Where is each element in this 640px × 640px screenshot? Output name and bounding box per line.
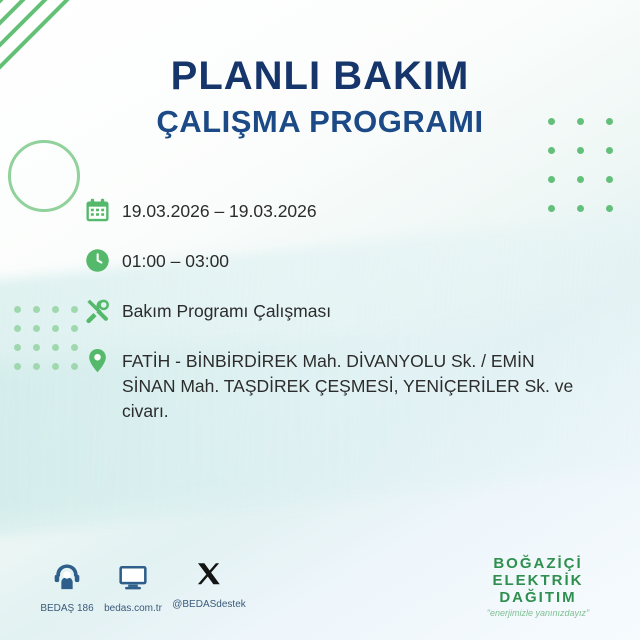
- page-title: PLANLI BAKIM ÇALIŞMA PROGRAMI: [0, 54, 640, 140]
- info-row-location: FATİH - BİNBİRDİREK Mah. DİVANYOLU Sk. /…: [84, 346, 614, 424]
- work-text: Bakım Programı Çalışması: [122, 296, 331, 324]
- footer: BEDAŞ 186 bedas.com.tr @BEDASdestek: [0, 552, 640, 640]
- location-text: FATİH - BİNBİRDİREK Mah. DİVANYOLU Sk. /…: [122, 346, 592, 424]
- title-line-1: PLANLI BAKIM: [0, 54, 640, 99]
- info-row-time: 01:00 – 03:00: [84, 246, 614, 281]
- calendar-icon: [84, 196, 122, 231]
- clock-icon: [84, 246, 122, 281]
- brand-slogan: "enerjimizle yanınızdayız": [454, 608, 622, 618]
- info-list: 19.03.2026 – 19.03.2026 01:00 – 03:00: [84, 196, 614, 439]
- info-row-work: Bakım Programı Çalışması: [84, 296, 614, 331]
- footer-x-label: @BEDASdestek: [154, 599, 264, 610]
- footer-contact-x[interactable]: @BEDASdestek: [154, 560, 264, 610]
- monitor-icon: [116, 581, 150, 598]
- info-row-date: 19.03.2026 – 19.03.2026: [84, 196, 614, 231]
- x-logo-icon: [194, 577, 224, 594]
- date-text: 19.03.2026 – 19.03.2026: [122, 196, 317, 224]
- time-text: 01:00 – 03:00: [122, 246, 229, 274]
- tools-icon: [84, 296, 122, 331]
- brand-logo: BOĞAZİÇİ ELEKTRİK DAĞITIM "enerjimizle y…: [454, 556, 622, 618]
- poster: PLANLI BAKIM ÇALIŞMA PROGRAMI 19.03: [0, 0, 640, 640]
- brand-line-2: ELEKTRİK: [454, 573, 622, 590]
- title-line-2: ÇALIŞMA PROGRAMI: [0, 103, 640, 140]
- circle-outline-decoration: [8, 140, 80, 212]
- brand-line-3: DAĞITIM: [454, 590, 622, 607]
- footer-divider: [0, 545, 640, 546]
- dot-grid-left-decoration: [14, 306, 78, 370]
- map-pin-icon: [84, 346, 122, 381]
- brand-line-1: BOĞAZİÇİ: [454, 556, 622, 573]
